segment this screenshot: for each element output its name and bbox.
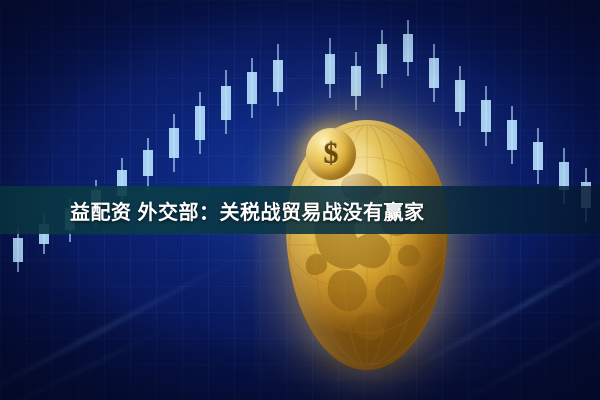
gold-coin: $ bbox=[306, 128, 356, 180]
headline-banner: 益配资 外交部：关税战贸易战没有赢家 bbox=[0, 186, 600, 234]
light-streak-icon bbox=[0, 255, 242, 400]
dollar-sign-icon: $ bbox=[324, 139, 339, 169]
headline-text: 益配资 外交部：关税战贸易战没有赢家 bbox=[70, 196, 425, 225]
news-thumbnail-image: $ 益配资 外交部：关税战贸易战没有赢家 bbox=[0, 0, 600, 400]
light-streak-icon bbox=[437, 285, 600, 400]
light-streak-icon bbox=[0, 317, 188, 400]
